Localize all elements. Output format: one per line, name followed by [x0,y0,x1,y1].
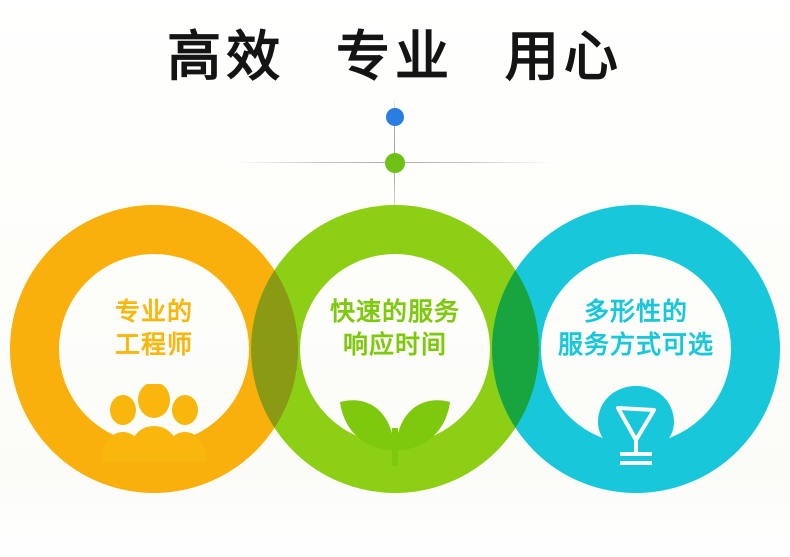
lightbulb-icon [492,384,780,484]
sprout-icon-glyph [336,384,454,466]
circle-label-cyan-line2: 服务方式可选 [492,329,780,362]
circle-label-cyan-line1: 多形性的 [492,296,780,329]
lightbulb-icon-glyph [590,384,682,470]
circle-label-cyan: 多形性的 服务方式可选 [492,296,780,362]
poster-canvas: 高效 专业 用心 [0,0,790,557]
people-icon-glyph [98,384,210,462]
